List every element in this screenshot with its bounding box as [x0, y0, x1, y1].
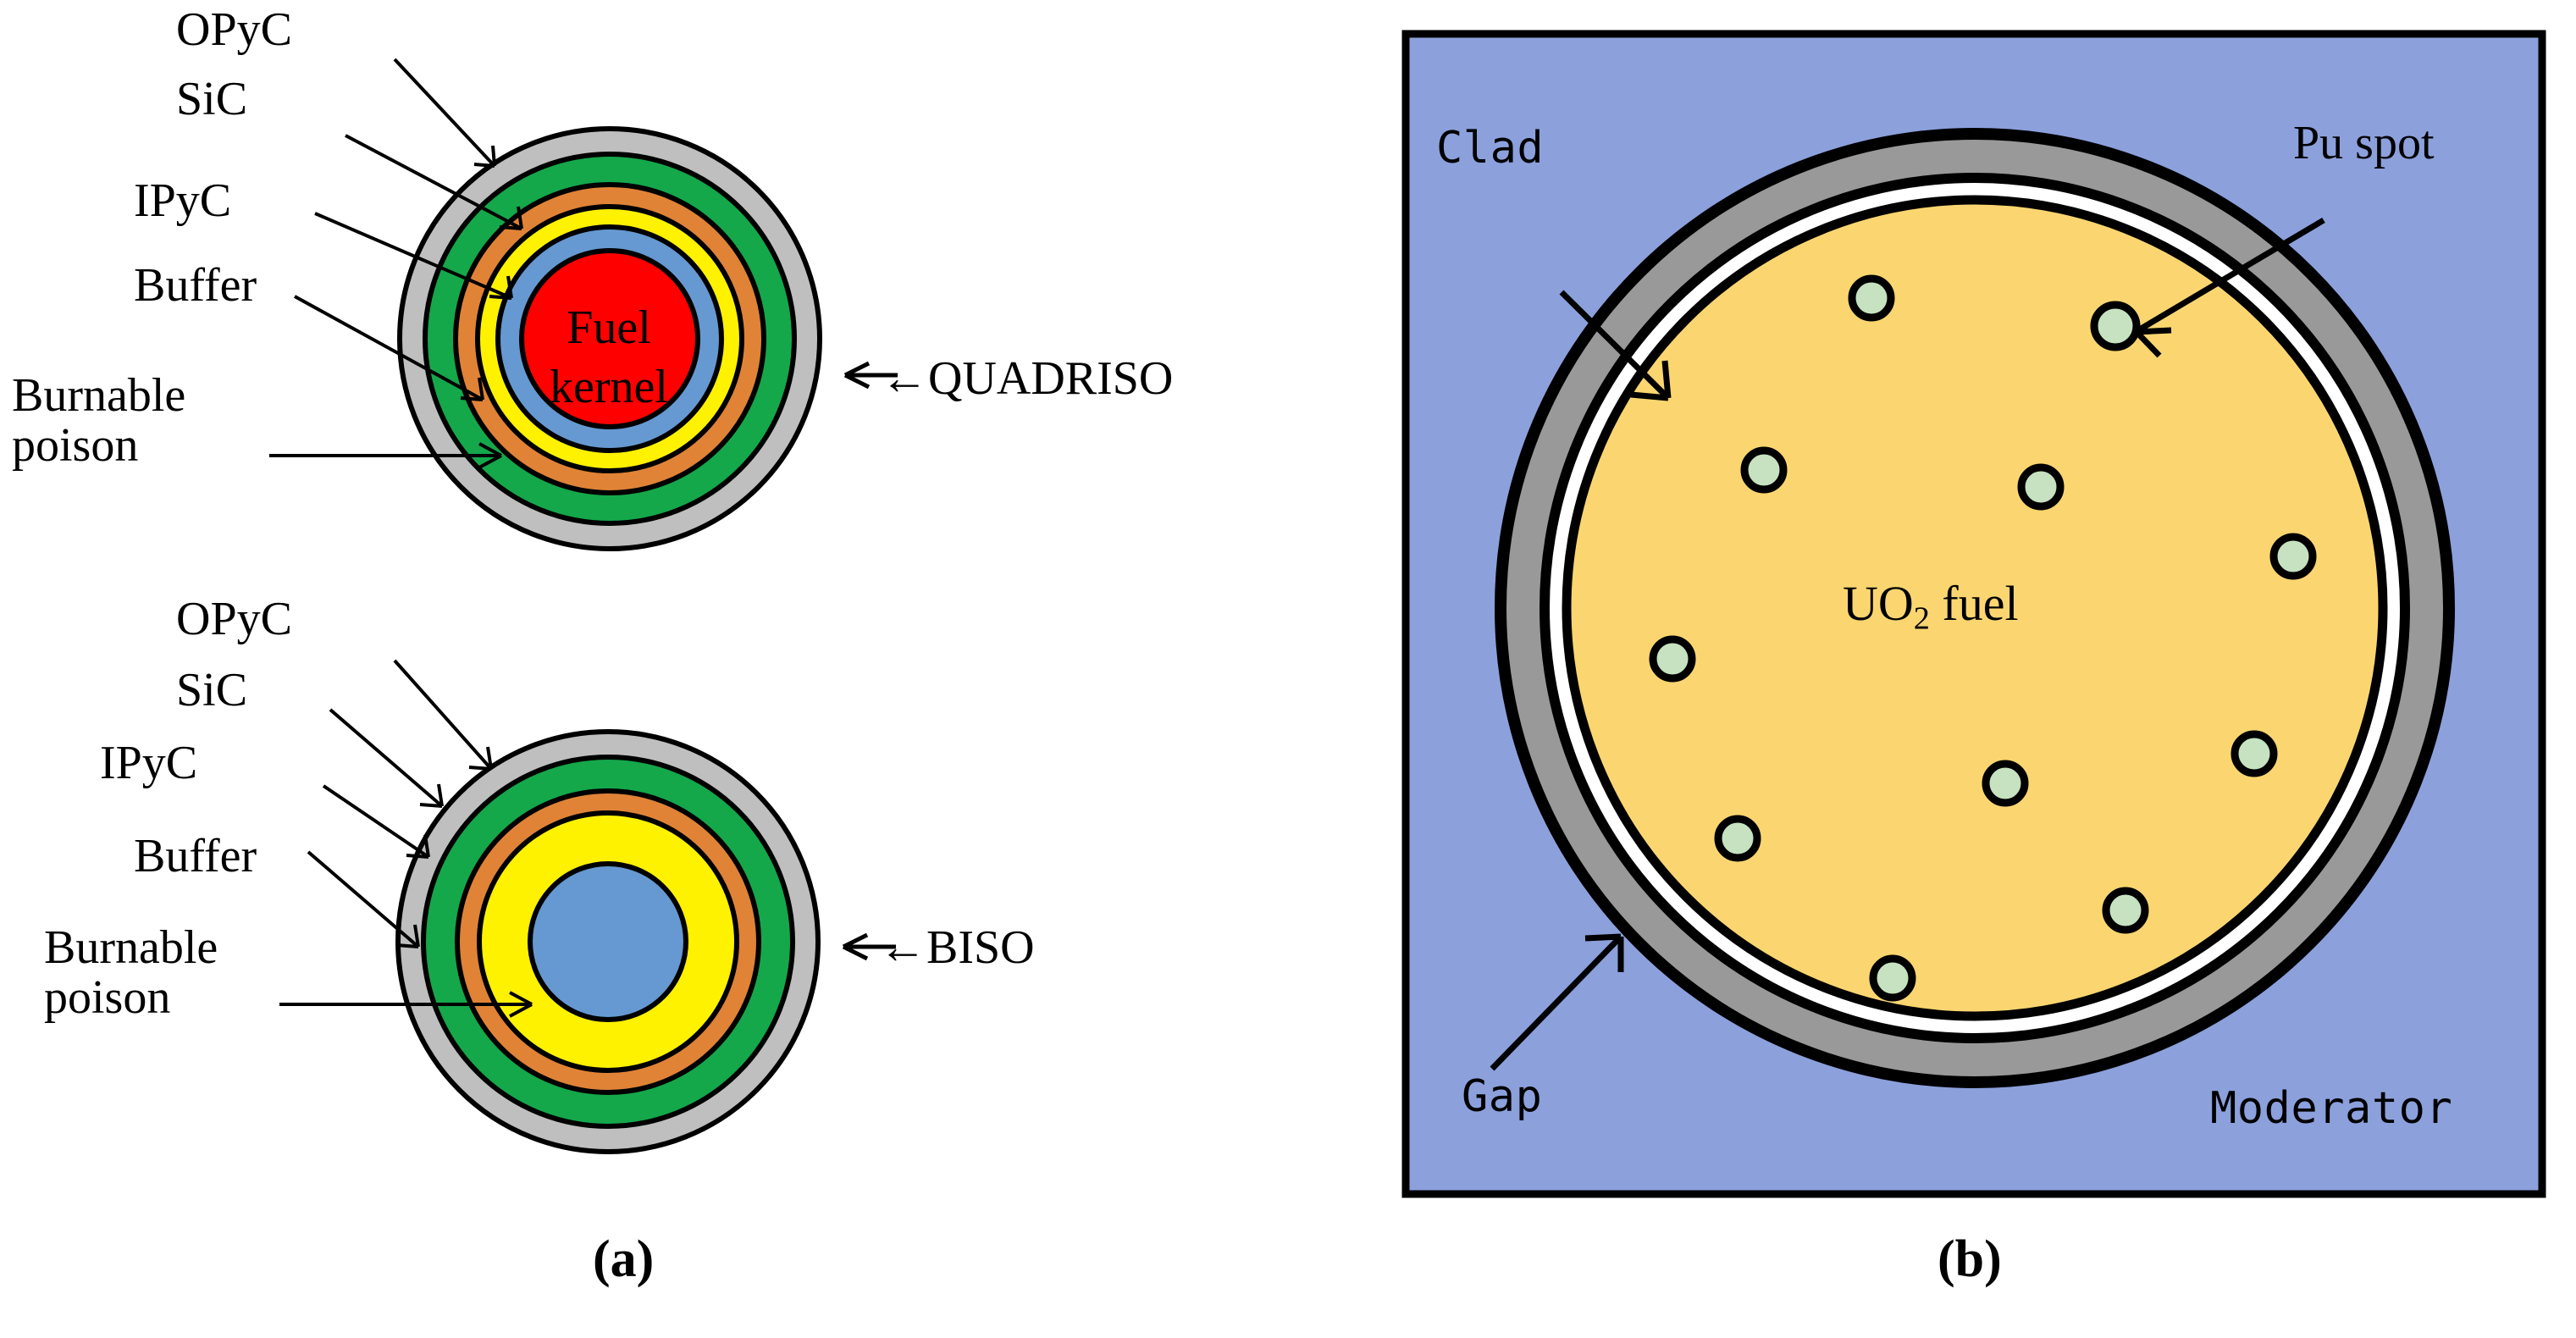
pu-spot — [1744, 451, 1783, 489]
pu-spot — [1653, 639, 1692, 678]
label-burnable-poison-biso: Burnable poison — [44, 923, 218, 1024]
panel-b-graphics — [1287, 0, 2576, 1338]
label-ipyc-biso: IPyC — [100, 738, 197, 788]
label-buffer-quadriso: Buffer — [134, 261, 257, 311]
label-sic-biso: SiC — [176, 666, 247, 716]
caption-panel-a: (a) — [593, 1230, 654, 1290]
label-gap: Gap — [1462, 1074, 1542, 1120]
label-burnable-poison-quadriso: Burnable poison — [12, 371, 185, 472]
label-quadriso: ←QUADRISO — [881, 354, 1173, 404]
label-opyc-quadriso: OPyC — [176, 5, 292, 55]
label-uo2-fuel: UO2 fuel — [1843, 578, 2019, 636]
label-fuel-kernel-line2: kernel — [503, 362, 715, 412]
panel-a: OPyC SiC IPyC Buffer Burnable poison OPy… — [0, 0, 1287, 1338]
label-uo2-prefix: UO — [1843, 576, 1914, 631]
pu-spot — [2235, 734, 2274, 773]
biso-layer-burnable-poison — [530, 864, 686, 1020]
label-clad: Clad — [1436, 125, 1544, 172]
label-pu-spot: Pu spot — [2293, 119, 2435, 169]
pu-spot — [1873, 959, 1912, 998]
figure-root: OPyC SiC IPyC Buffer Burnable poison OPy… — [0, 0, 2576, 1338]
label-buffer-biso: Buffer — [134, 832, 257, 882]
label-sic-quadriso: SiC — [176, 75, 247, 124]
pu-spot — [2021, 467, 2060, 506]
pu-spot — [2274, 537, 2313, 576]
panel-b: Clad Pu spot Gap Moderator UO2 fuel (b) — [1287, 0, 2576, 1338]
leader-ipyc-2 — [323, 786, 428, 857]
leader-opyc-1 — [395, 59, 495, 166]
label-fuel-kernel-line1: Fuel — [503, 303, 715, 353]
pu-spot — [1852, 279, 1891, 318]
label-ipyc-quadriso: IPyC — [134, 176, 231, 226]
label-uo2-subscript: 2 — [1914, 601, 1930, 637]
pu-spot — [1718, 819, 1757, 858]
pu-spot — [2094, 305, 2137, 347]
caption-panel-b: (b) — [1938, 1230, 2002, 1290]
label-uo2-suffix: fuel — [1930, 576, 2019, 631]
biso-particle — [398, 732, 818, 1152]
label-biso: ←BISO — [879, 923, 1035, 973]
leader-sic-2 — [330, 710, 442, 806]
pu-spot — [1986, 764, 2025, 803]
pu-spot — [2106, 891, 2145, 930]
label-moderator: Moderator — [2210, 1086, 2452, 1132]
leader-opyc-2 — [395, 661, 491, 769]
label-opyc-biso: OPyC — [176, 594, 292, 644]
